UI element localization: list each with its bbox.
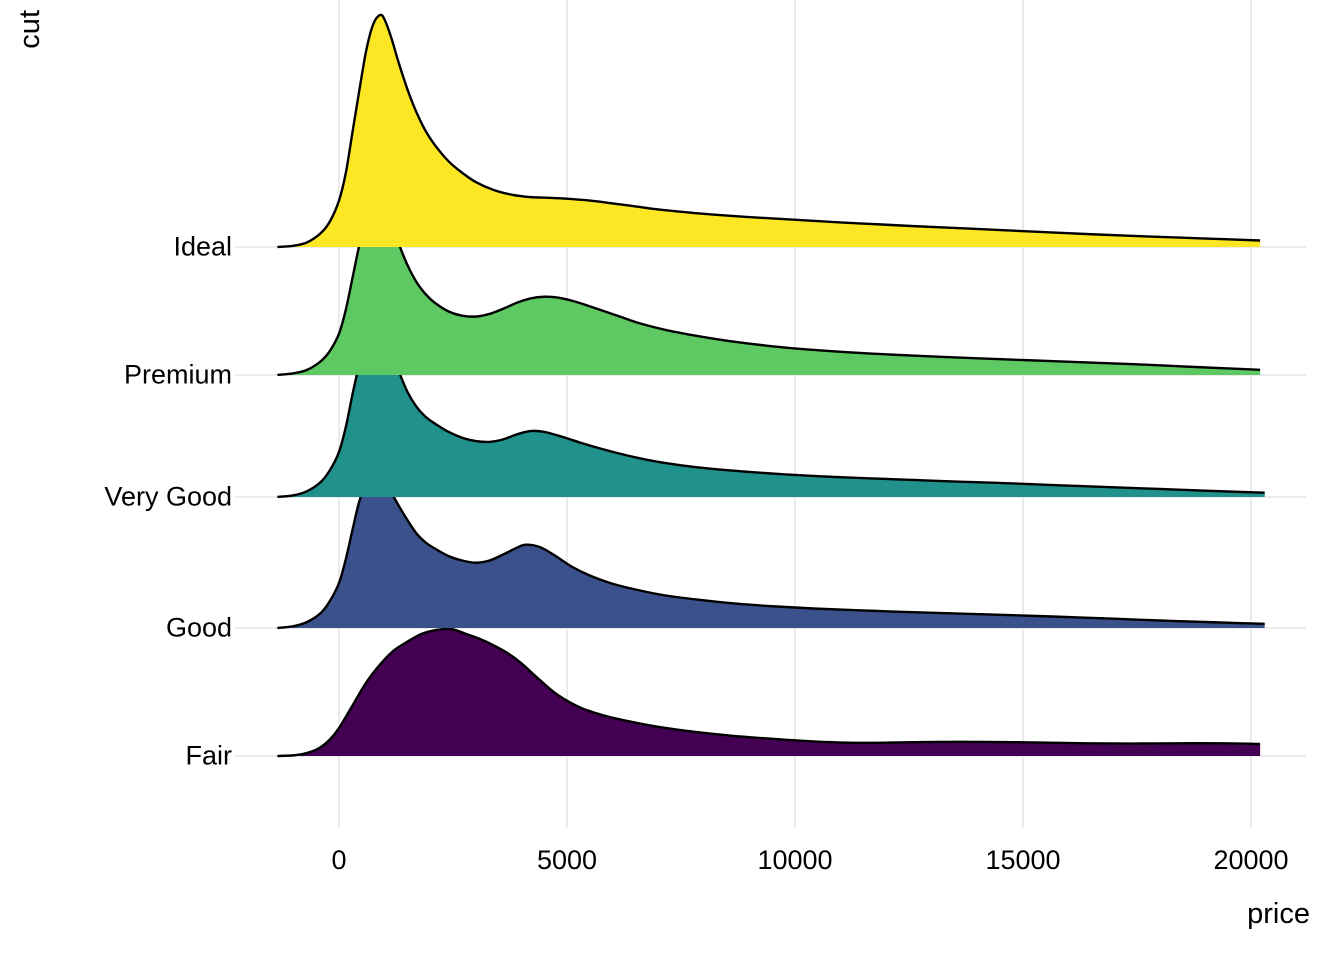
plot-canvas [0,0,1344,960]
x-axis-title: price [1247,898,1310,931]
y-tick-label-premium: Premium [124,360,232,391]
ridge-ideal [277,15,1260,247]
y-tick-label-fair: Fair [186,741,233,772]
x-tick-label-0: 0 [331,845,346,876]
ridge-fill-fair [277,629,1260,756]
x-tick-label-15000: 15000 [985,845,1060,876]
ridgeline-plot: cut IdealPremiumVery GoodGoodFair 050001… [0,0,1344,960]
ridge-good [277,478,1264,628]
ridge-areas [277,15,1264,756]
x-tick-label-5000: 5000 [537,845,597,876]
y-tick-label-good: Good [166,613,232,644]
y-tick-label-ideal: Ideal [173,232,232,263]
ridge-fair [277,629,1260,756]
x-tick-label-20000: 20000 [1213,845,1288,876]
x-tick-label-10000: 10000 [757,845,832,876]
y-tick-label-very-good: Very Good [104,482,232,513]
